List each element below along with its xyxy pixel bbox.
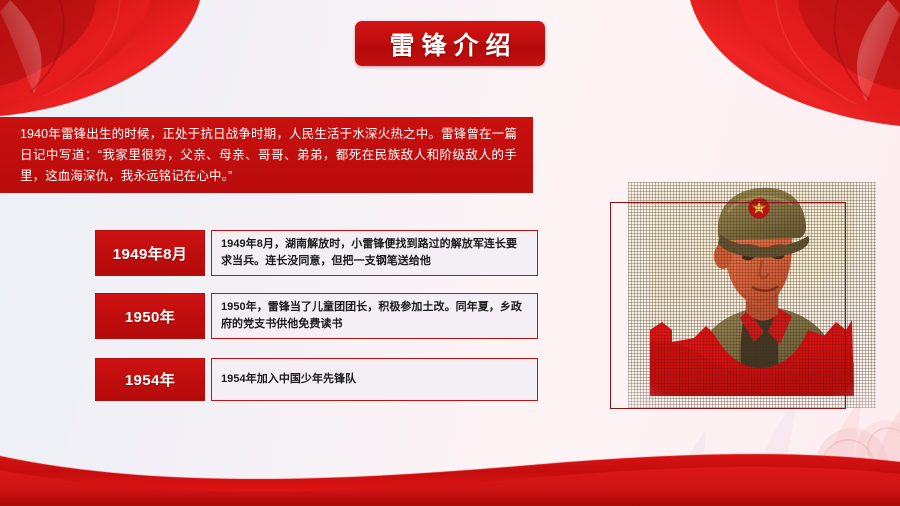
portrait-photo-frame [628,182,876,408]
portrait-lei-feng-illustration [628,182,876,408]
timeline-description-text: 1949年8月，湖南解放时，小雷锋便找到路过的解放军连长要求当兵。连长没同意，但… [221,236,528,270]
timeline-year-label: 1954年 [95,358,205,401]
red-silk-ribbon-right-icon [570,0,900,130]
intro-paragraph-text: 1940年雷锋出生的时候，正处于抗日战争时期，人民生活于水深火热之中。雷锋曾在一… [20,124,517,187]
red-silk-ribbon-left-icon [0,0,330,120]
intro-paragraph-panel: 1940年雷锋出生的时候，正处于抗日战争时期，人民生活于水深火热之中。雷锋曾在一… [0,117,533,193]
timeline-description-box: 1954年加入中国少年先锋队 [211,358,538,401]
photo-frame-right-line [845,202,846,409]
page-title: 雷锋介绍 [382,26,517,62]
photo-frame-left-line [610,202,611,408]
page-title-badge: 雷锋介绍 [355,21,545,66]
timeline-description-text: 1950年，雷锋当了儿童团团长，积极参加土改。同年夏，乡政府的党支书供他免费读书 [221,299,528,333]
photo-frame-bottom-line [610,408,846,409]
timeline-year-label: 1949年8月 [95,230,205,276]
portrait-photo [628,182,876,408]
timeline-description-text: 1954年加入中国少年先锋队 [221,371,356,388]
timeline-year-label: 1950年 [95,293,205,339]
timeline-row[interactable]: 1949年8月 1949年8月，湖南解放时，小雷锋便找到路过的解放军连长要求当兵… [95,230,538,276]
photo-frame-top-line [610,202,846,203]
red-wave-footer-icon [0,416,900,506]
timeline-description-box: 1949年8月，湖南解放时，小雷锋便找到路过的解放军连长要求当兵。连长没同意，但… [211,230,538,276]
timeline-description-box: 1950年，雷锋当了儿童团团长，积极参加土改。同年夏，乡政府的党支书供他免费读书 [211,293,538,339]
slide-canvas: 雷锋介绍 1940年雷锋出生的时候，正处于抗日战争时期，人民生活于水深火热之中。… [0,0,900,506]
timeline-row[interactable]: 1950年 1950年，雷锋当了儿童团团长，积极参加土改。同年夏，乡政府的党支书… [95,293,538,339]
timeline-row[interactable]: 1954年 1954年加入中国少年先锋队 [95,358,538,401]
